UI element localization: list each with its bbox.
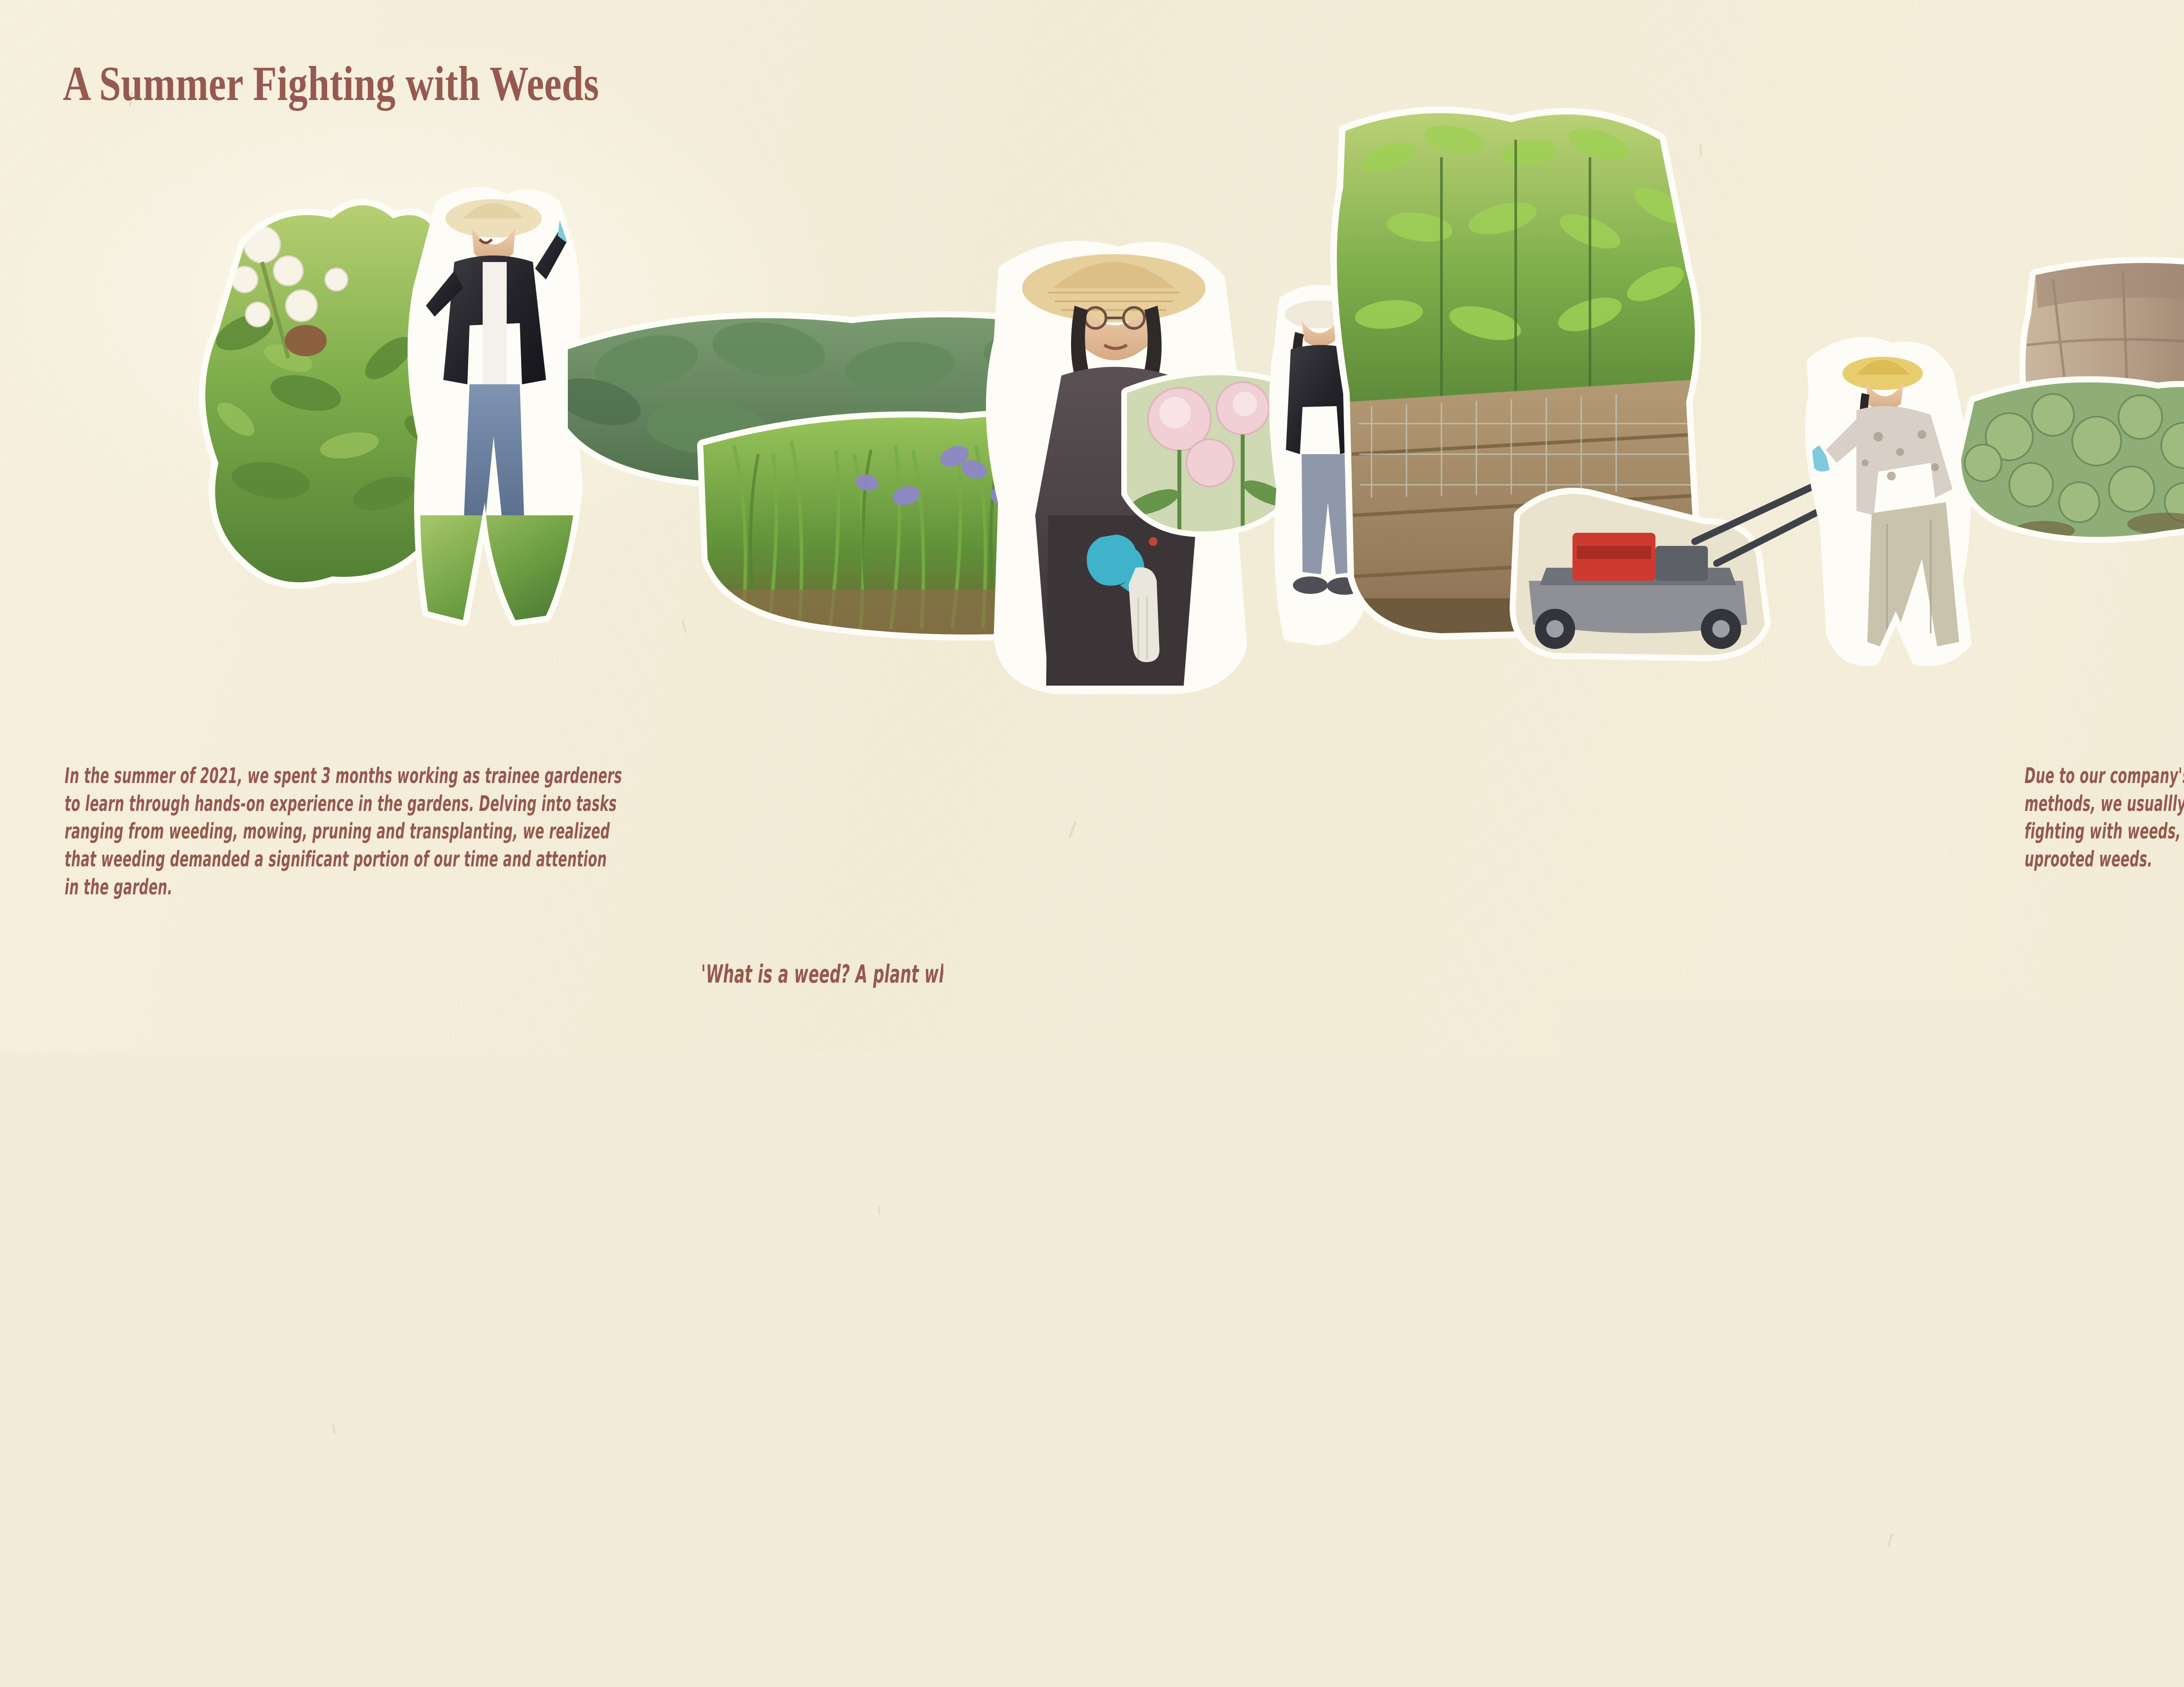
weed-illustration-red-sorrel (1425, 1057, 1567, 1565)
weed-illustration-dandelion (1699, 1081, 1848, 1566)
page-title: A Summer Fighting with Weeds (63, 59, 599, 108)
weed-illustration-hairy-bittercress (393, 1073, 542, 1566)
weed-illustration-creeping-woodsorrel (1110, 1135, 1257, 1567)
weed-illustration-birds-foot-trefoil (235, 1098, 382, 1565)
weed-illustration-asiatic-dayflower (673, 1085, 821, 1567)
weed-illustration-yellow-sweet-clover (2137, 1012, 2184, 1566)
intro-paragraph-left: In the summer of 2021, we spent 3 months… (65, 762, 622, 901)
intro-paragraph-right: Due to our company's rule of avoiding ch… (2025, 762, 2184, 873)
closing-caption: However after months of attentive observ… (494, 1584, 1557, 1608)
weed-illustration-curly-dock (1980, 1012, 2128, 1566)
weed-illustration-bittersweet-nightshade (1268, 1062, 1412, 1566)
weed-illustration-spear-thistle (830, 1025, 977, 1566)
weed-illustration-pokeweed (1542, 1002, 1692, 1567)
weed-illustration-common-violet (550, 1096, 697, 1566)
weed-illustration-purple-knapweed (1856, 1062, 2003, 1565)
emerson-quote: 'What is a weed? A plant whose virtues h… (701, 961, 1560, 988)
weed-illustration-ribwort-plantain (987, 1009, 1132, 1565)
